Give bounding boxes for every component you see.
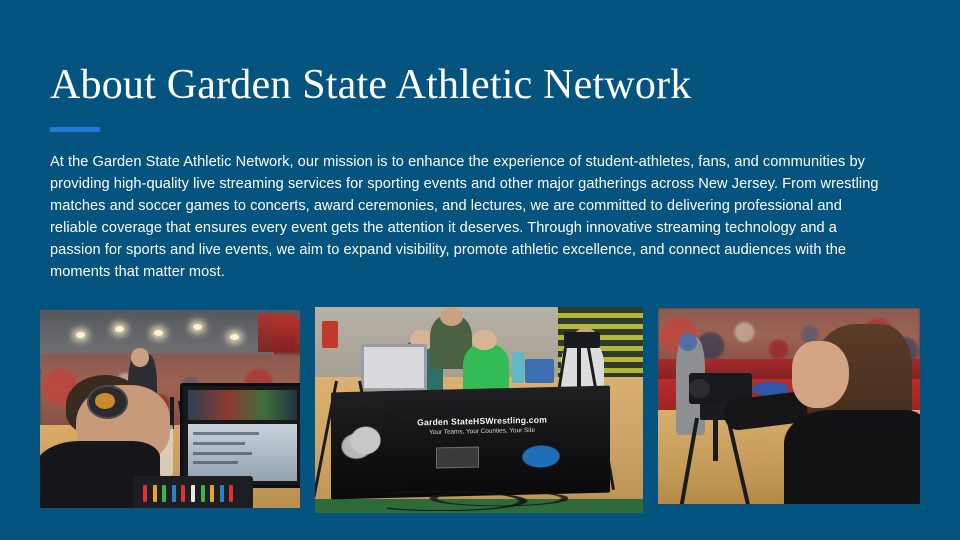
monitor-ui-line — [193, 442, 245, 445]
mixer-fader — [229, 485, 233, 501]
mixer-fader — [153, 485, 157, 501]
crew-member-head — [472, 330, 497, 351]
broadcast-monitor — [361, 344, 427, 391]
monitor-ui-line — [193, 452, 252, 455]
about-body-paragraph: At the Garden State Athletic Network, ou… — [50, 151, 890, 283]
operator-face — [792, 341, 850, 408]
crew-member-head — [440, 307, 463, 326]
gym-wall-banner — [274, 318, 300, 356]
headphone-earcup — [95, 393, 116, 409]
mixer-fader — [172, 485, 176, 501]
sponsor-logo — [518, 442, 564, 470]
photo-3-scene — [658, 308, 920, 504]
audio-mixer — [134, 476, 254, 508]
water-bottle — [512, 352, 524, 383]
photo-broadcast-student — [40, 310, 300, 508]
accent-rule-divider — [50, 127, 100, 132]
photo-broadcast-table: Garden StateHSWrestling.com Your Teams, … — [315, 307, 643, 513]
mixer-fader — [143, 485, 147, 501]
mixer-fader — [210, 485, 214, 501]
fire-extinguisher-icon — [322, 321, 338, 348]
cable-bundle — [387, 486, 567, 511]
sponsor-logo — [436, 447, 479, 468]
slide-canvas: About Garden State Athletic Network At t… — [0, 0, 960, 540]
photo-2-scene: Garden StateHSWrestling.com Your Teams, … — [315, 307, 643, 513]
mixer-fader — [220, 485, 224, 501]
operator-torso — [784, 410, 920, 504]
mixer-fader — [201, 485, 205, 501]
mixer-fader — [181, 485, 185, 501]
monitor-ui-line — [193, 461, 238, 464]
wrestler-logo — [341, 418, 390, 464]
broadcast-monitor — [180, 383, 300, 488]
photo-1-scene — [40, 310, 300, 508]
tripod-column — [713, 414, 718, 461]
ceiling-light-icon — [76, 332, 85, 338]
ceiling-light-icon — [230, 334, 239, 340]
cooler — [525, 359, 555, 384]
mixer-fader — [191, 485, 195, 501]
monitor-preview-row — [188, 390, 297, 420]
video-camera-icon — [564, 332, 600, 348]
page-title: About Garden State Athletic Network — [50, 61, 910, 109]
mixer-fader — [162, 485, 166, 501]
photo-camera-operator — [658, 308, 920, 504]
monitor-ui-line — [193, 432, 260, 435]
